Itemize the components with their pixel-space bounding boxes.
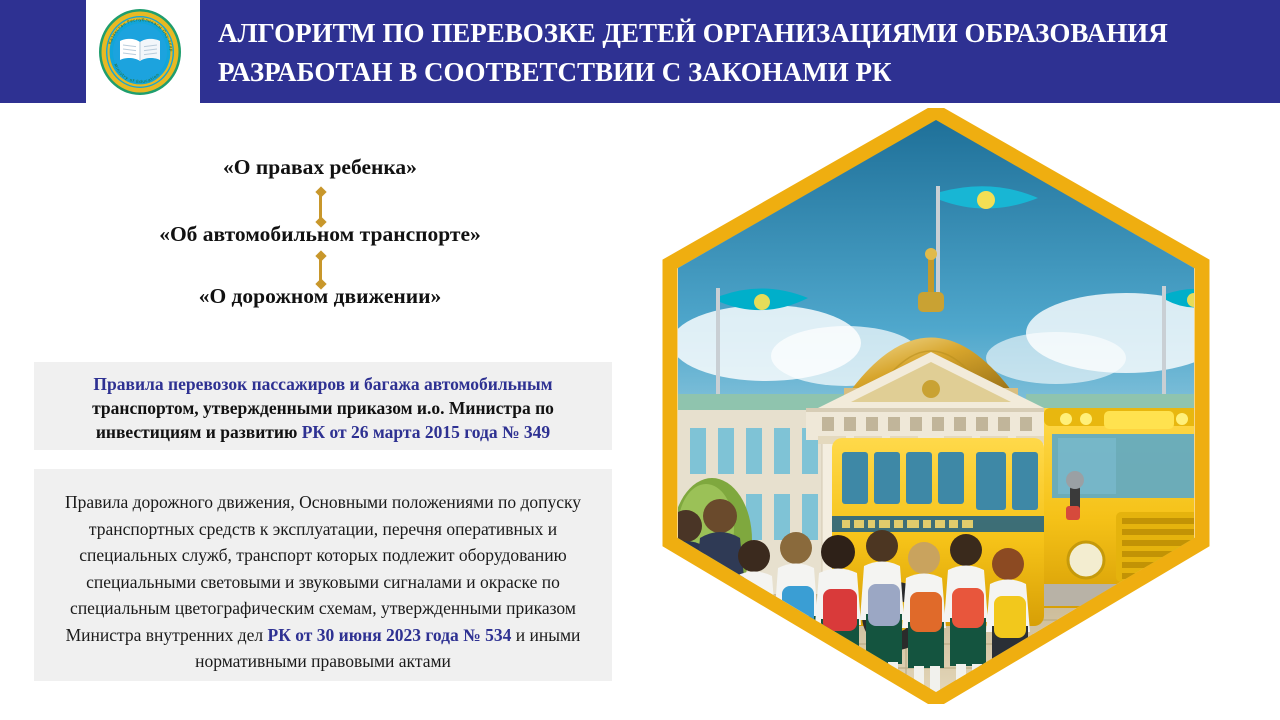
law-item-dorozhnoe-dvizhenie: «О дорожном движении»: [0, 284, 640, 309]
law-connector-2: [319, 256, 322, 284]
page-title: АЛГОРИТМ ПО ПЕРЕВОЗКЕ ДЕТЕЙ ОРГАНИЗАЦИЯМ…: [218, 14, 1258, 92]
svg-text:780 E5 24: 780 E5 24: [1138, 589, 1203, 603]
law-connector-1: [319, 192, 322, 222]
rules-box-traffic-regulations: Правила дорожного движения, Основными по…: [34, 469, 612, 681]
rules-box-1-text: Правила перевозок пассажиров и багажа ав…: [48, 372, 598, 444]
connector-diamond-top: [315, 186, 326, 197]
law-item-avtomobilnyi-transport: «Об автомобильном транспорте»: [0, 222, 640, 247]
page-title-line-2: РАЗРАБОТАН В СООТВЕТСТВИИ С ЗАКОНАМИ РК: [218, 53, 1258, 92]
school-bus-illustration: 780 E5 24: [646, 108, 1246, 704]
rules-box-2-text: Правила дорожного движения, Основными по…: [54, 489, 592, 675]
text-segment: РК от 26 марта 2015 года № 349: [302, 422, 550, 442]
header-accent-band-left: [0, 0, 86, 103]
rules-box-passenger-transport: Правила перевозок пассажиров и багажа ав…: [34, 362, 612, 450]
text-segment: РК от 30 июня 2023 года № 534: [268, 625, 512, 645]
connector-diamond-top: [315, 250, 326, 261]
law-item-prava-rebenka: «О правах ребенка»: [0, 155, 640, 180]
page-title-line-1: АЛГОРИТМ ПО ПЕРЕВОЗКЕ ДЕТЕЙ ОРГАНИЗАЦИЯМ…: [218, 14, 1258, 53]
ministry-of-education-emblem-icon: Қазақстан Республикасы Оқу-ағарту минист…: [96, 8, 184, 96]
text-segment: Правила дорожного движения, Основными по…: [65, 492, 581, 645]
text-segment: Правила перевозок пассажиров и багажа ав…: [93, 374, 552, 394]
